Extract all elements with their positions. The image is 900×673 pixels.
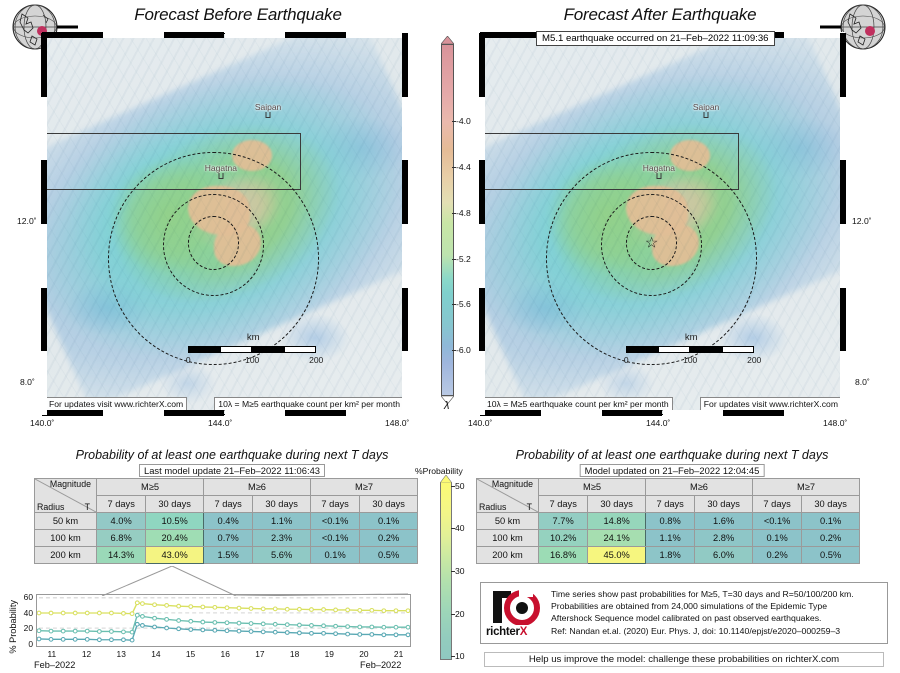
lambda-colorbar xyxy=(441,44,454,396)
table-cell-0-3[interactable]: 1.6% xyxy=(695,513,753,530)
map-frame-tick xyxy=(840,288,846,352)
scale-tick-100: 100 xyxy=(245,355,259,365)
map-frame-tick xyxy=(541,410,602,416)
table-cell-0-2[interactable]: 0.4% xyxy=(203,513,252,530)
map-frame-tick xyxy=(41,351,47,415)
info-box: richterX Time series show past probabili… xyxy=(480,582,888,644)
timeseries-xtick-8: 19 xyxy=(325,647,334,659)
table-radius-1: 100 km xyxy=(35,530,97,547)
timeseries-y-axis-title: % Probability xyxy=(8,600,18,654)
map-frame-tick xyxy=(103,32,164,38)
table-period-0-1: 30 days xyxy=(146,496,204,513)
table-cell-0-1[interactable]: 10.5% xyxy=(146,513,204,530)
probability-table-before[interactable]: MagnitudeTRadiusM≥5M≥6M≥77 days30 days7 … xyxy=(34,478,418,564)
map-frame-tick xyxy=(164,410,225,416)
timeseries-month-left: Feb–2022 xyxy=(34,660,75,670)
map-frame-tick xyxy=(784,32,845,38)
city-label-saipan: Saipan xyxy=(693,102,719,112)
table-corner-header: MagnitudeTRadius xyxy=(477,479,539,513)
table-row: 200 km16.8%45.0%1.8%6.0%0.2%0.5% xyxy=(477,547,860,564)
map-frame-tick xyxy=(479,351,485,415)
table-row: 100 km6.8%20.4%0.7%2.3%<0.1%0.2% xyxy=(35,530,418,547)
table-cell-0-2[interactable]: 0.8% xyxy=(645,513,694,530)
table-radius-2: 200 km xyxy=(35,547,97,564)
table-maggroup-0: M≥5 xyxy=(97,479,204,496)
timeseries-xtick-5: 16 xyxy=(221,647,230,659)
table-cell-2-3[interactable]: 6.0% xyxy=(695,547,753,564)
timeseries-ytick-2: 40 xyxy=(24,608,36,618)
map-frame-tick xyxy=(346,32,407,38)
map-frame-tick xyxy=(723,410,784,416)
table-cell-2-1[interactable]: 45.0% xyxy=(588,547,646,564)
timeseries-xtick-0: 11 xyxy=(48,647,57,659)
earthquake-event-banner: M5.1 earthquake occurred on 21–Feb–2022 … xyxy=(536,31,775,46)
map-frame-tick xyxy=(42,32,103,38)
table-cell-1-1[interactable]: 24.1% xyxy=(588,530,646,547)
table-row: 50 km4.0%10.5%0.4%1.1%<0.1%0.1% xyxy=(35,513,418,530)
prob-colorbar-arrow-top xyxy=(440,475,452,483)
map-frame-tick xyxy=(285,410,346,416)
lambda-tick-3: -5.2 xyxy=(456,254,471,264)
lon-label-right-148: 148.0˚ xyxy=(823,418,847,428)
map-frame-tick xyxy=(479,288,485,352)
map-caption-updates-right: For updates visit www.richterX.com xyxy=(700,397,842,411)
table-cell-2-5[interactable]: 0.5% xyxy=(360,547,418,564)
table-row: 50 km7.7%14.8%0.8%1.6%<0.1%0.1% xyxy=(477,513,860,530)
table-radius-2: 200 km xyxy=(477,547,539,564)
prob-tick-0: 50 xyxy=(455,481,465,491)
table-title-left: Probability of at least one earthquake d… xyxy=(22,448,442,462)
timeseries-ytick-3: 60 xyxy=(24,592,36,602)
lon-label-left-144: 144.0˚ xyxy=(208,418,232,428)
map-frame-tick xyxy=(840,351,846,415)
map-frame-tick xyxy=(663,410,724,416)
scale-tick-200: 200 xyxy=(309,355,323,365)
table-cell-1-2[interactable]: 1.1% xyxy=(645,530,694,547)
table-cell-0-4[interactable]: <0.1% xyxy=(310,513,359,530)
table-cell-2-3[interactable]: 5.6% xyxy=(253,547,311,564)
lon-label-left-140: 140.0˚ xyxy=(30,418,54,428)
city-label-saipan: Saipan xyxy=(255,102,281,112)
lambda-tick-2: -4.8 xyxy=(456,208,471,218)
table-period-1-0: 7 days xyxy=(203,496,252,513)
scale-tick-200: 200 xyxy=(747,355,761,365)
prob-colorbar-label: %Probability xyxy=(415,466,463,476)
map-frame-tick xyxy=(479,160,485,224)
map-caption-lambda-left: 10λ = M≥5 earthquake count per km² per m… xyxy=(214,397,404,411)
lambda-colorbar-arrow-top xyxy=(441,36,454,44)
table-cell-0-0[interactable]: 7.7% xyxy=(539,513,588,530)
map-title-right: Forecast After Earthquake xyxy=(470,5,850,25)
table-cell-1-5[interactable]: 0.2% xyxy=(360,530,418,547)
scale-tick-100: 100 xyxy=(683,355,697,365)
map-frame-tick xyxy=(840,33,846,97)
table-cell-2-0[interactable]: 16.8% xyxy=(539,547,588,564)
timeseries-chart[interactable]: 02040601112131415161718192021 xyxy=(36,594,411,647)
city-marker-saipan xyxy=(266,112,271,118)
richterx-wordmark: richterX xyxy=(486,626,527,638)
lat-label-right-12: 12.0˚ xyxy=(852,216,872,226)
prob-tick-4: 10 xyxy=(455,651,465,661)
table-to-chart-connectors xyxy=(36,566,412,596)
table-subtitle-left: Last model update 21–Feb–2022 11:06:43 xyxy=(139,464,325,477)
map-frame-tick xyxy=(225,410,286,416)
brand-main: richter xyxy=(486,626,520,638)
map-frame-tick xyxy=(480,410,541,416)
table-period-0-1: 30 days xyxy=(588,496,646,513)
table-cell-0-4[interactable]: <0.1% xyxy=(752,513,801,530)
map-frame-tick xyxy=(41,224,47,288)
lambda-tick-5: -6.0 xyxy=(456,345,471,355)
lambda-symbol: λ xyxy=(444,400,449,412)
map-frame-tick xyxy=(164,32,225,38)
lambda-tick-0: -4.0 xyxy=(456,116,471,126)
table-cell-2-4[interactable]: 0.1% xyxy=(310,547,359,564)
scale-tick-0: 0 xyxy=(186,355,191,365)
map-frame-tick xyxy=(479,33,485,97)
table-cell-1-3[interactable]: 2.8% xyxy=(695,530,753,547)
map-caption-lambda-right: 10λ = M≥5 earthquake count per km² per m… xyxy=(483,397,673,411)
city-marker-hagatna xyxy=(218,173,223,179)
timeseries-xtick-7: 18 xyxy=(290,647,299,659)
table-cell-0-5[interactable]: 0.1% xyxy=(802,513,860,530)
table-cell-2-5[interactable]: 0.5% xyxy=(802,547,860,564)
richterx-logo-icon xyxy=(489,589,545,625)
brand-accent: X xyxy=(520,626,527,638)
lon-label-right-140: 140.0˚ xyxy=(468,418,492,428)
table-cell-2-2[interactable]: 1.5% xyxy=(203,547,252,564)
map-frame-tick xyxy=(225,32,286,38)
map-caption-updates-left: For updates visit www.richterX.com xyxy=(45,397,187,411)
table-period-2-0: 7 days xyxy=(752,496,801,513)
table-row: 200 km14.3%43.0%1.5%5.6%0.1%0.5% xyxy=(35,547,418,564)
table-radius-0: 50 km xyxy=(35,513,97,530)
timeseries-xtick-2: 13 xyxy=(117,647,126,659)
table-period-1-1: 30 days xyxy=(253,496,311,513)
lat-label-left-8: 8.0˚ xyxy=(20,377,35,387)
table-period-2-1: 30 days xyxy=(360,496,418,513)
map-frame-tick xyxy=(840,97,846,161)
table-cell-0-0[interactable]: 4.0% xyxy=(97,513,146,530)
lat-label-right-8: 8.0˚ xyxy=(855,377,870,387)
info-line-4: Ref: Nandan et.al. (2020) Eur. Phys. J, … xyxy=(551,625,885,637)
info-line-3: Aftershock Sequence model calibrated on … xyxy=(551,612,885,624)
map-canvas-before: Saipan Hagatna km 0 100 200 For updates … xyxy=(43,34,406,414)
map-frame-tick xyxy=(41,160,47,224)
map-frame-tick xyxy=(480,32,541,38)
table-subtitle-right: Model updated on 21–Feb–2022 12:04:45 xyxy=(580,464,765,477)
table-cell-1-5[interactable]: 0.2% xyxy=(802,530,860,547)
prob-tick-3: 20 xyxy=(455,609,465,619)
table-period-1-0: 7 days xyxy=(645,496,694,513)
map-frame-tick xyxy=(42,410,103,416)
radius-ring-50km xyxy=(188,216,239,269)
scale-bar-title: km xyxy=(247,332,260,343)
table-maggroup-2: M≥7 xyxy=(310,479,417,496)
footer-call-to-action[interactable]: Help us improve the model: challenge the… xyxy=(484,652,884,667)
table-period-2-1: 30 days xyxy=(802,496,860,513)
table-row: 100 km10.2%24.1%1.1%2.8%0.1%0.2% xyxy=(477,530,860,547)
city-label-hagatna: Hagatna xyxy=(205,163,237,173)
table-cell-1-4[interactable]: 0.1% xyxy=(752,530,801,547)
timeseries-month-right: Feb–2022 xyxy=(360,660,401,670)
forecast-map-before[interactable]: Saipan Hagatna km 0 100 200 For updates … xyxy=(42,33,407,415)
map-canvas-after: ☆ Saipan Hagatna km 0 100 200 10λ = M≥5 … xyxy=(481,34,844,414)
info-text: Time series show past probabilities for … xyxy=(551,588,885,637)
table-cell-1-1[interactable]: 20.4% xyxy=(146,530,204,547)
city-label-hagatna: Hagatna xyxy=(643,163,675,173)
timeseries-xtick-4: 15 xyxy=(186,647,195,659)
timeseries-ytick-1: 20 xyxy=(24,623,36,633)
map-frame-tick xyxy=(840,160,846,224)
city-marker-hagatna xyxy=(656,173,661,179)
timeseries-ytick-0: 0 xyxy=(28,639,36,649)
table-period-0-0: 7 days xyxy=(539,496,588,513)
info-line-1: Time series show past probabilities for … xyxy=(551,588,885,600)
table-cell-0-3[interactable]: 1.1% xyxy=(253,513,311,530)
city-marker-saipan xyxy=(704,112,709,118)
lat-label-left-12: 12.0˚ xyxy=(17,216,37,226)
map-frame-tick xyxy=(346,410,407,416)
timeseries-xtick-9: 20 xyxy=(359,647,368,659)
map-frame-tick xyxy=(402,351,408,415)
table-period-1-1: 30 days xyxy=(695,496,753,513)
probability-table-after[interactable]: MagnitudeTRadiusM≥5M≥6M≥77 days30 days7 … xyxy=(476,478,860,564)
map-frame-tick xyxy=(41,97,47,161)
map-frame-tick xyxy=(479,97,485,161)
timeseries-xtick-10: 21 xyxy=(394,647,403,659)
map-frame-tick xyxy=(103,410,164,416)
lon-label-right-144: 144.0˚ xyxy=(646,418,670,428)
table-period-2-0: 7 days xyxy=(310,496,359,513)
timeseries-xtick-1: 12 xyxy=(82,647,91,659)
table-cell-0-1[interactable]: 14.8% xyxy=(588,513,646,530)
table-cell-2-0[interactable]: 14.3% xyxy=(97,547,146,564)
table-radius-0: 50 km xyxy=(477,513,539,530)
prob-tick-1: 40 xyxy=(455,523,465,533)
table-maggroup-0: M≥5 xyxy=(539,479,646,496)
map-frame-tick xyxy=(402,160,408,224)
map-frame-tick xyxy=(602,410,663,416)
table-title-right: Probability of at least one earthquake d… xyxy=(462,448,882,462)
table-radius-1: 100 km xyxy=(477,530,539,547)
prob-tick-2: 30 xyxy=(455,566,465,576)
table-cell-1-3[interactable]: 2.3% xyxy=(253,530,311,547)
timeseries-xtick-6: 17 xyxy=(255,647,264,659)
map-frame-tick xyxy=(784,410,845,416)
forecast-map-after[interactable]: ☆ Saipan Hagatna km 0 100 200 10λ = M≥5 … xyxy=(480,33,845,415)
map-frame-tick xyxy=(402,288,408,352)
table-cell-1-2[interactable]: 0.7% xyxy=(203,530,252,547)
map-frame-tick xyxy=(840,224,846,288)
table-cell-2-2[interactable]: 1.8% xyxy=(645,547,694,564)
table-maggroup-1: M≥6 xyxy=(203,479,310,496)
map-frame-tick xyxy=(285,32,346,38)
table-maggroup-1: M≥6 xyxy=(645,479,752,496)
table-cell-2-4[interactable]: 0.2% xyxy=(752,547,801,564)
scale-tick-0: 0 xyxy=(624,355,629,365)
table-period-0-0: 7 days xyxy=(97,496,146,513)
table-cell-1-0[interactable]: 10.2% xyxy=(539,530,588,547)
info-line-2: Probabilities are obtained from 24,000 s… xyxy=(551,600,885,612)
map-frame-tick xyxy=(41,288,47,352)
map-frame-tick xyxy=(402,97,408,161)
lambda-tick-1: -4.4 xyxy=(456,162,471,172)
lon-label-left-148: 148.0˚ xyxy=(385,418,409,428)
scale-bar-title: km xyxy=(685,332,698,343)
epicenter-star: ☆ xyxy=(645,236,658,251)
table-cell-1-0[interactable]: 6.8% xyxy=(97,530,146,547)
map-title-left: Forecast Before Earthquake xyxy=(48,5,428,25)
table-maggroup-2: M≥7 xyxy=(752,479,859,496)
map-frame-tick xyxy=(479,224,485,288)
timeseries-plot-area xyxy=(36,594,411,647)
map-frame-tick xyxy=(402,224,408,288)
table-cell-0-5[interactable]: 0.1% xyxy=(360,513,418,530)
map-frame-tick xyxy=(41,33,47,97)
table-corner-header: MagnitudeTRadius xyxy=(35,479,97,513)
map-frame-tick xyxy=(402,33,408,97)
table-cell-2-1[interactable]: 43.0% xyxy=(146,547,204,564)
timeseries-xtick-3: 14 xyxy=(151,647,160,659)
table-cell-1-4[interactable]: <0.1% xyxy=(310,530,359,547)
lambda-tick-4: -5.6 xyxy=(456,299,471,309)
